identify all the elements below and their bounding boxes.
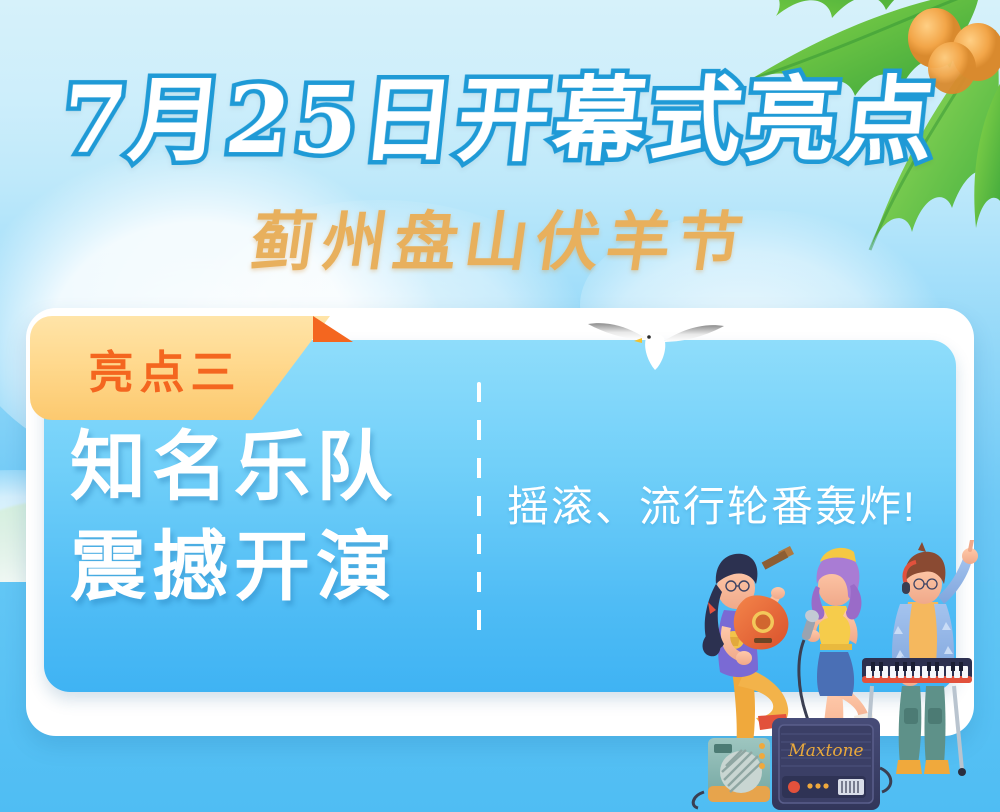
dashed-divider	[477, 382, 481, 648]
maxtone-amp: Maxtone	[772, 718, 891, 810]
retro-amp	[693, 738, 770, 808]
headline: 知名乐队 震撼开演	[70, 418, 398, 619]
amp-brand-text: Maxtone	[787, 741, 863, 761]
ribbon-label: 亮点三	[30, 316, 300, 420]
highlight-ribbon: 亮点三	[30, 316, 370, 420]
caption-text: 摇滚、流行轮番轰炸!	[507, 481, 977, 534]
band-illustration: Maxtone	[686, 540, 1000, 812]
page-subtitle: 蓟州盘山伏羊节	[0, 205, 1000, 282]
headline-line-2: 震撼开演	[70, 518, 398, 618]
headline-line-1: 知名乐队	[70, 425, 398, 510]
seagull-icon	[586, 310, 726, 374]
poster-canvas: 7月25日开幕式亮点 蓟州盘山伏羊节 亮点三 知名乐队 震撼开演	[0, 0, 1000, 812]
keyboard-icon	[862, 658, 972, 683]
page-title: 7月25日开幕式亮点	[0, 72, 1000, 169]
